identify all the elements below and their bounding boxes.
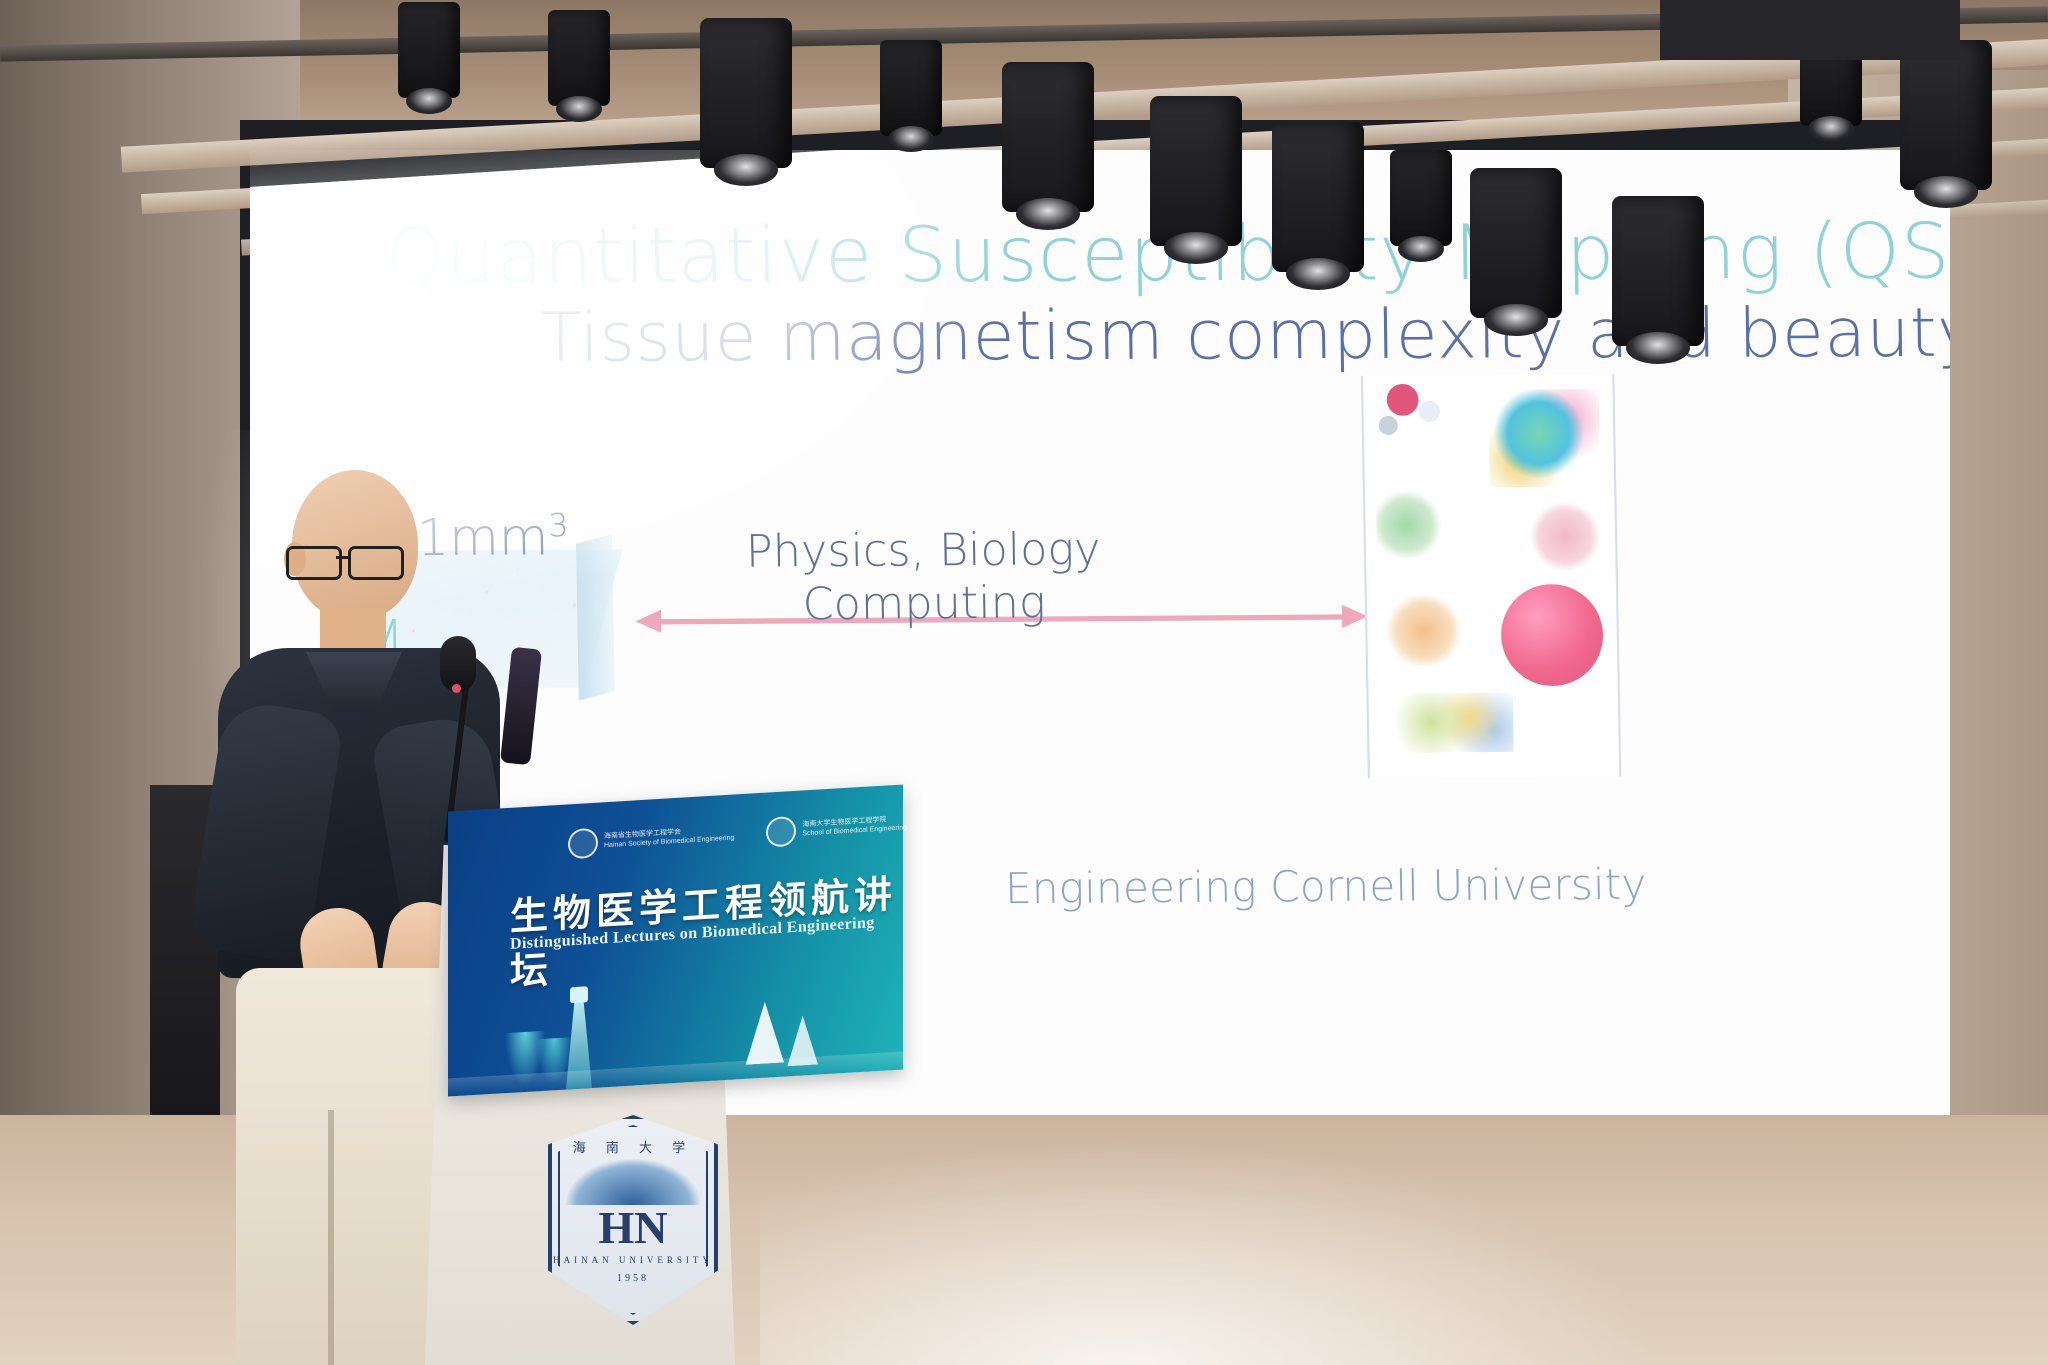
seal-wave-motif <box>566 1159 700 1205</box>
spotlight-icon <box>1272 122 1364 272</box>
sailboat-icon <box>744 1001 784 1065</box>
stage-scene: Quantitative Susceptibility Mapping (QSM… <box>0 0 2048 1365</box>
seal-chinese-name: 海 南 大 学 <box>548 1137 718 1156</box>
arrow-head-left <box>636 610 662 633</box>
spotlight-icon <box>880 40 942 136</box>
spotlight-icon <box>398 2 460 98</box>
arrow-label: Physics, Biology Computing <box>745 523 1101 630</box>
molecule-white-icon <box>1419 401 1441 422</box>
dna-strand-icon <box>1524 499 1606 574</box>
spotlight-icon <box>1002 62 1094 212</box>
presenter-head <box>292 470 418 620</box>
spotlight-icon <box>1150 96 1242 246</box>
school-logo-text: 海南大学生物医学工程学院 School of Biomedical Engine… <box>802 815 907 839</box>
university-seal: 海 南 大 学 HN HAINAN UNIVERSITY 1958 <box>548 1115 718 1325</box>
podium-banner: 海南省生物医学工程学会 Hainan Society of Biomedical… <box>448 784 903 1096</box>
seal-english-name: HAINAN UNIVERSITY <box>548 1255 718 1265</box>
molecule-grey-icon <box>1379 416 1398 435</box>
floor-reflection <box>760 1135 1660 1365</box>
lighting-truss <box>0 0 2048 120</box>
lighthouse-lamp-icon <box>570 986 588 1003</box>
molecule-red-icon <box>1386 384 1418 416</box>
chromatin-icon <box>1380 595 1472 666</box>
neuron-icon <box>1488 389 1600 487</box>
spotlight-icon <box>1612 196 1704 346</box>
protein-green-icon <box>1376 492 1454 558</box>
microphone-led-indicator <box>452 684 461 693</box>
spotlight-icon <box>1470 168 1562 318</box>
spotlight-icon <box>1390 150 1452 246</box>
biology-illustration-panel <box>1361 374 1621 778</box>
glasses-icon <box>286 546 414 576</box>
spotlight-icon <box>1900 40 1992 190</box>
banner-logo-row: 海南省生物医学工程学会 Hainan Society of Biomedical… <box>568 808 848 865</box>
spotlight-icon <box>548 10 610 106</box>
slide-credit-affiliation: Engineering Cornell University <box>1005 861 1647 914</box>
voxel-cube-side <box>576 534 615 700</box>
cluster-icon <box>1396 693 1514 753</box>
spotlight-icon <box>700 18 792 168</box>
ceiling-duct <box>1660 0 1960 60</box>
society-logo-icon <box>568 828 598 860</box>
arrow-head-right <box>1342 605 1368 628</box>
cell-pink-icon <box>1500 584 1604 686</box>
society-logo-text: 海南省生物医学工程学会 Hainan Society of Biomedical… <box>604 826 734 851</box>
school-logo-icon <box>766 816 796 848</box>
trouser-seam <box>328 1110 334 1365</box>
seal-initials: HN <box>548 1201 718 1254</box>
seal-founding-year: 1958 <box>548 1273 718 1284</box>
